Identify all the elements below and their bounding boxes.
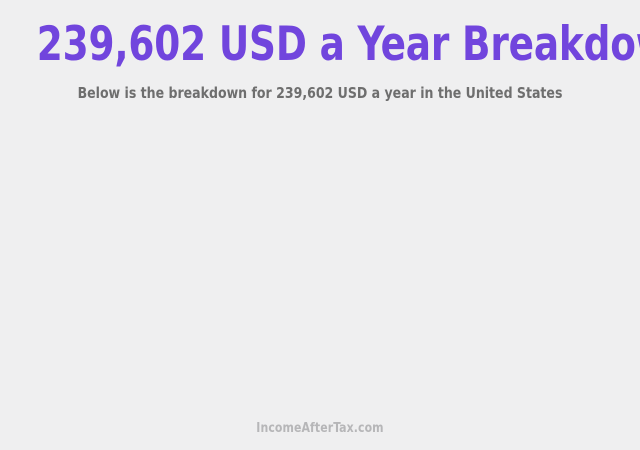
page-title: 239,602 USD a Year Breakdown xyxy=(37,17,603,73)
income-breakdown-page: 239,602 USD a Year Breakdown Below is th… xyxy=(0,0,640,450)
site-watermark: IncomeAfterTax.com xyxy=(32,420,608,437)
page-subtitle: Below is the breakdown for 239,602 USD a… xyxy=(32,84,608,103)
chart-plot-area xyxy=(0,112,640,412)
